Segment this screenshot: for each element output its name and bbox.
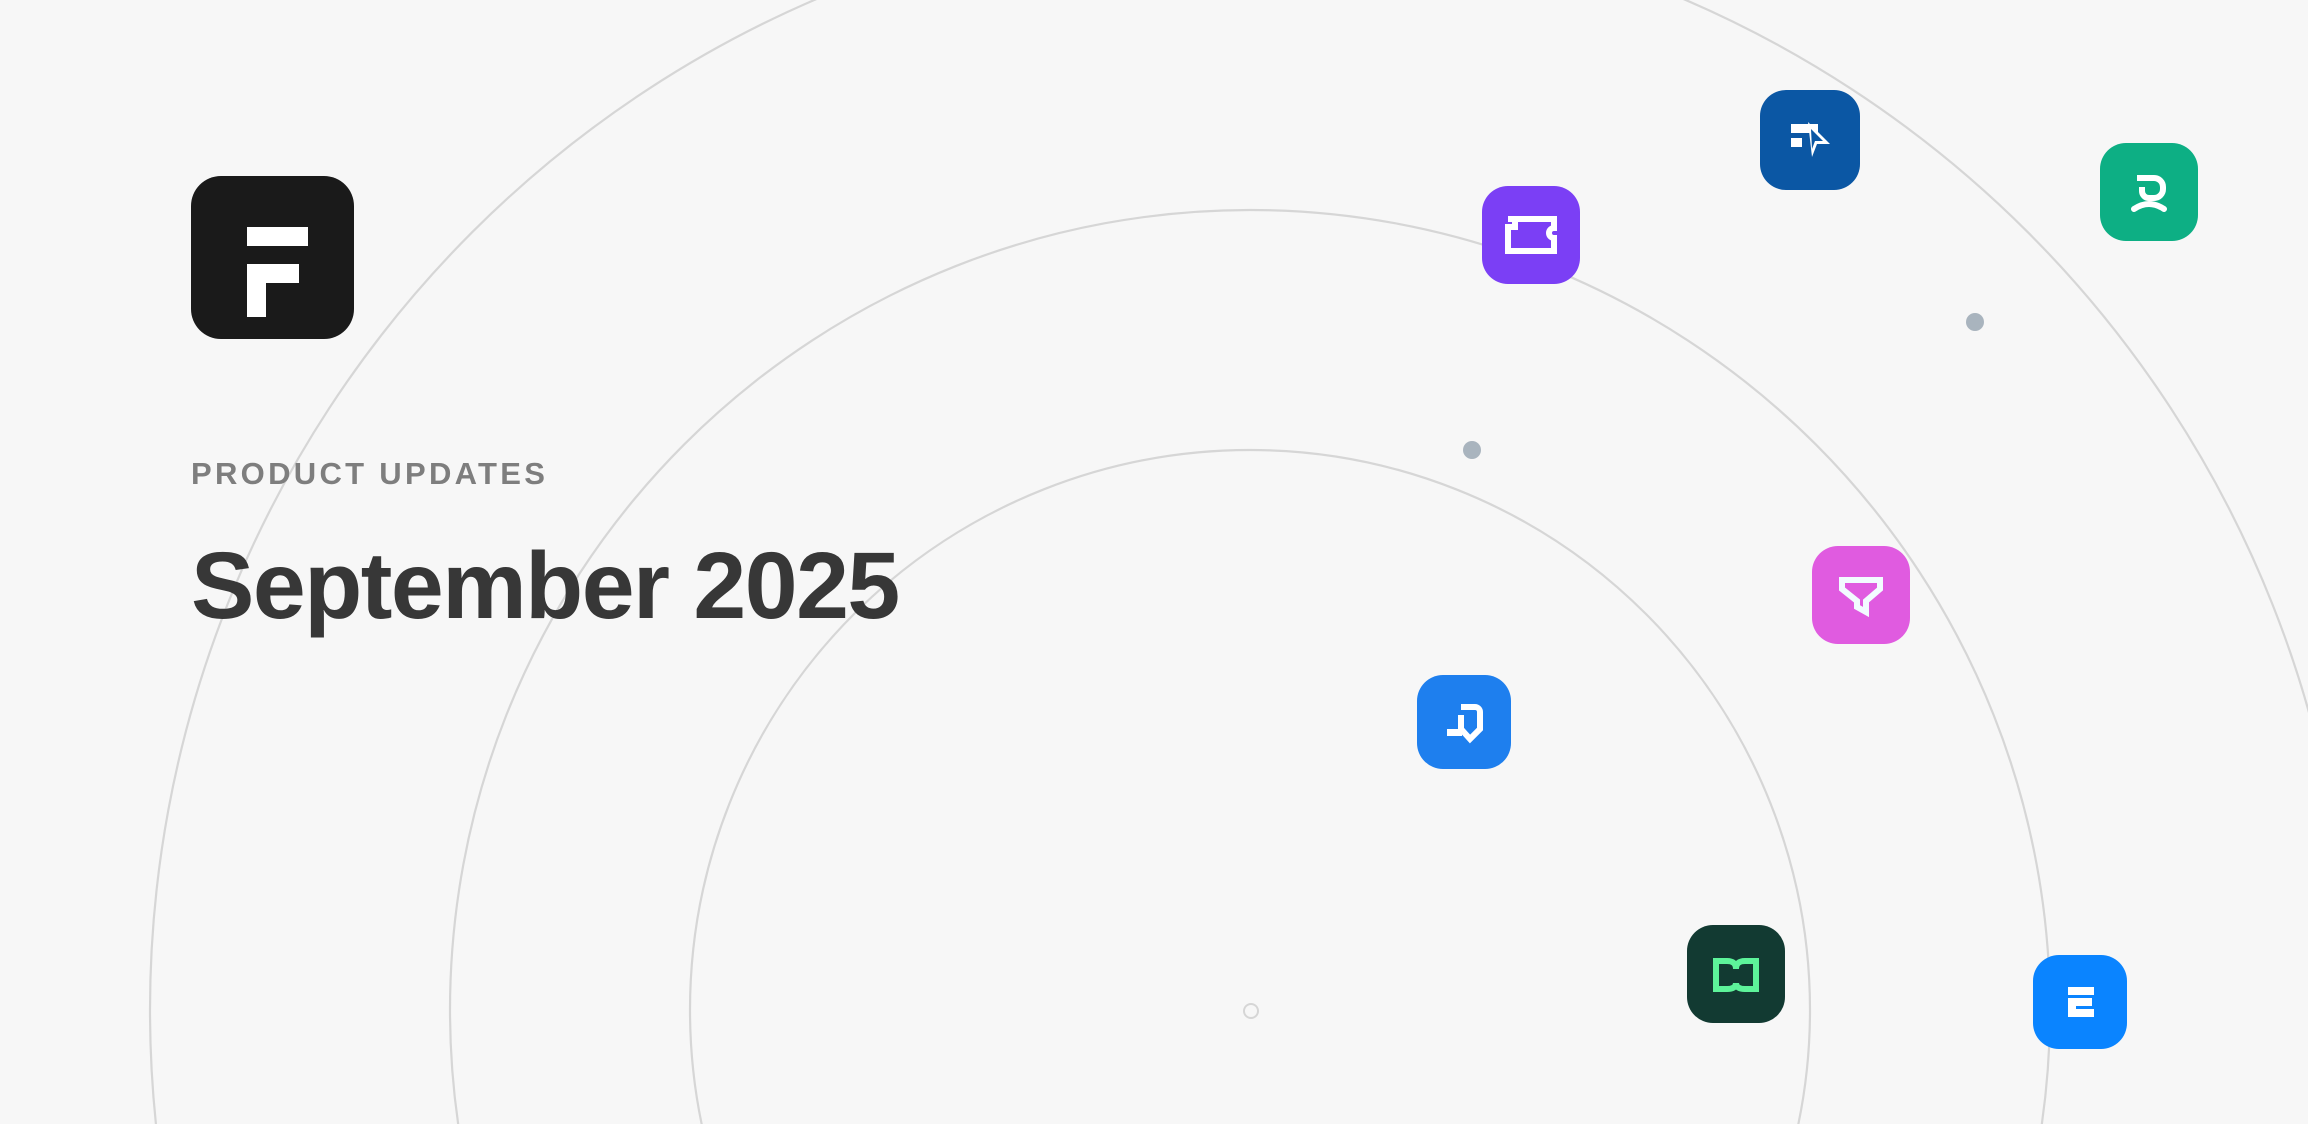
cursor-icon — [1781, 111, 1839, 169]
app-icon-cursor[interactable] — [1760, 90, 1860, 190]
page-title: September 2025 — [191, 533, 1291, 639]
page-eyebrow: PRODUCT UPDATES — [191, 458, 1291, 489]
embed-icon — [2053, 975, 2107, 1029]
orbit-center-ring — [1243, 1003, 1259, 1019]
app-icon-embed[interactable] — [2033, 955, 2127, 1049]
orbit-dot-left — [1463, 441, 1481, 459]
product-updates-hero: PRODUCT UPDATES September 2025 — [0, 0, 2308, 1124]
app-icon-ticket[interactable] — [1482, 186, 1580, 284]
app-icon-editor[interactable] — [1417, 675, 1511, 769]
hero-content: PRODUCT UPDATES September 2025 — [191, 176, 1291, 639]
app-icon-chat[interactable] — [2100, 143, 2198, 241]
orbit-dot-right — [1966, 313, 1984, 331]
chat-icon — [2121, 164, 2177, 220]
book-icon — [1707, 945, 1765, 1003]
app-icon-book[interactable] — [1687, 925, 1785, 1023]
filter-icon — [1833, 567, 1889, 623]
ticket-icon — [1503, 207, 1559, 263]
logo-stem — [247, 264, 266, 317]
editor-icon — [1437, 695, 1491, 749]
frill-logo — [191, 176, 354, 339]
logo-bar-top — [247, 227, 308, 246]
app-icon-filter[interactable] — [1812, 546, 1910, 644]
